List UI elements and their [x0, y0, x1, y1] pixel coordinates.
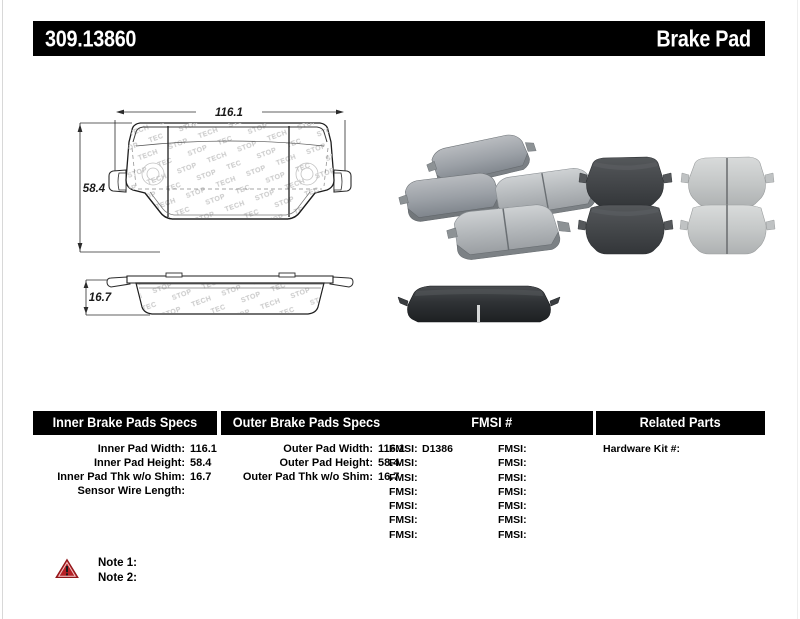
column-header-outer-specs: Outer Brake Pads Specs: [221, 411, 391, 435]
brake-pad-front-view: [109, 117, 360, 227]
related-part-label: Hardware Kit #:: [603, 443, 680, 455]
spec-label: Inner Pad Width:: [33, 443, 185, 455]
spec-label: Sensor Wire Length:: [33, 485, 185, 497]
product-type: Brake Pad: [641, 25, 751, 52]
fmsi-row: FMSI:: [498, 529, 596, 543]
note-line-1: Note 1:: [98, 556, 137, 571]
column-header-inner-specs: Inner Brake Pads Specs: [33, 411, 217, 435]
spec-row-sensor-wire-length: Sensor Wire Length:: [33, 485, 217, 499]
note-lines: Note 1: Note 2:: [98, 556, 137, 586]
fmsi-label: FMSI:: [498, 514, 527, 526]
table-header-row: Inner Brake Pads Specs Outer Brake Pads …: [33, 411, 765, 435]
product-type-text: Brake Pad: [657, 25, 751, 52]
product-photo-flat-set: [578, 157, 775, 254]
fmsi-label: FMSI:: [389, 443, 418, 455]
column-header-fmsi: FMSI #: [390, 411, 593, 435]
fmsi-row: FMSI:: [498, 500, 596, 514]
fmsi-row: FMSI:: [389, 514, 494, 528]
spec-label: Outer Pad Width:: [221, 443, 373, 455]
fmsi-label: FMSI:: [389, 529, 418, 541]
fmsi-label: FMSI:: [498, 443, 527, 455]
illustration-area: STOP TECH STOP TECH: [0, 62, 800, 392]
spec-label: Outer Pad Height:: [221, 457, 373, 469]
fmsi-label: FMSI:: [498, 529, 527, 541]
spec-row-outer-pad-thickness: Outer Pad Thk w/o Shim: 16.7: [221, 471, 391, 485]
title-bar: 309.13860 Brake Pad: [33, 21, 765, 56]
table-body: Inner Pad Width: 116.1 Inner Pad Height:…: [33, 435, 765, 570]
fmsi-row: FMSI:: [498, 514, 596, 528]
fmsi-value: D1386: [422, 443, 453, 455]
spec-label: Inner Pad Height:: [33, 457, 185, 469]
fmsi-label: FMSI:: [498, 472, 527, 484]
product-photo-edge-view: [398, 286, 560, 322]
fmsi-row: FMSI:: [389, 457, 494, 471]
spec-label: Outer Pad Thk w/o Shim:: [221, 471, 373, 483]
spec-sheet-page: 309.13860 Brake Pad STOP TECH STOP TECH: [0, 0, 800, 619]
inner-specs-column: Inner Pad Width: 116.1 Inner Pad Height:…: [33, 443, 217, 499]
fmsi-row: FMSI:: [389, 472, 494, 486]
fmsi-row: FMSI:: [498, 443, 596, 457]
fmsi-label: FMSI:: [498, 500, 527, 512]
spec-value: 16.7: [190, 471, 211, 483]
fmsi-label: FMSI:: [498, 486, 527, 498]
note-line-2: Note 2:: [98, 571, 137, 586]
fmsi-label: FMSI:: [389, 514, 418, 526]
width-dimension-label: 116.1: [215, 107, 243, 119]
outer-specs-column: Outer Pad Width: 116.1 Outer Pad Height:…: [221, 443, 391, 485]
fmsi-label: FMSI:: [498, 457, 527, 469]
fmsi-label: FMSI:: [389, 500, 418, 512]
fmsi-row: FMSI:: [498, 472, 596, 486]
spec-row-inner-pad-width: Inner Pad Width: 116.1: [33, 443, 217, 457]
specs-table: Inner Brake Pads Specs Outer Brake Pads …: [33, 411, 765, 570]
fmsi-row: FMSI:: [389, 529, 494, 543]
fmsi-row: FMSI:: [389, 500, 494, 514]
thickness-dimension-label: 16.7: [89, 292, 112, 304]
spec-row-inner-pad-thickness: Inner Pad Thk w/o Shim: 16.7: [33, 471, 217, 485]
column-header-related-parts: Related Parts: [596, 411, 765, 435]
fmsi-label: FMSI:: [389, 472, 418, 484]
related-parts-column: Hardware Kit #:: [603, 443, 765, 457]
spec-row-outer-pad-width: Outer Pad Width: 116.1: [221, 443, 391, 457]
fmsi-column-1: FMSI: D1386 FMSI: FMSI: FMSI: FMSI:: [389, 443, 494, 543]
spec-value: 116.1: [190, 443, 217, 455]
spec-row-outer-pad-height: Outer Pad Height: 58.4: [221, 457, 391, 471]
warning-triangle-icon: [55, 558, 79, 579]
related-part-row-hardware-kit: Hardware Kit #:: [603, 443, 765, 457]
fmsi-label: FMSI:: [389, 457, 418, 469]
fmsi-row: FMSI: D1386: [389, 443, 494, 457]
fmsi-label: FMSI:: [389, 486, 418, 498]
fmsi-row: FMSI:: [498, 457, 596, 471]
spec-value: 58.4: [190, 457, 211, 469]
fmsi-row: FMSI:: [389, 486, 494, 500]
fmsi-column-2: FMSI: FMSI: FMSI: FMSI: FMSI:: [498, 443, 596, 543]
spec-row-inner-pad-height: Inner Pad Height: 58.4: [33, 457, 217, 471]
spec-label: Inner Pad Thk w/o Shim:: [33, 471, 185, 483]
fmsi-row: FMSI:: [498, 486, 596, 500]
height-dimension-label: 58.4: [83, 183, 106, 195]
part-number-text: 309.13860: [45, 25, 136, 52]
part-number: 309.13860: [45, 25, 151, 52]
product-photo-angled-set: [397, 130, 607, 261]
